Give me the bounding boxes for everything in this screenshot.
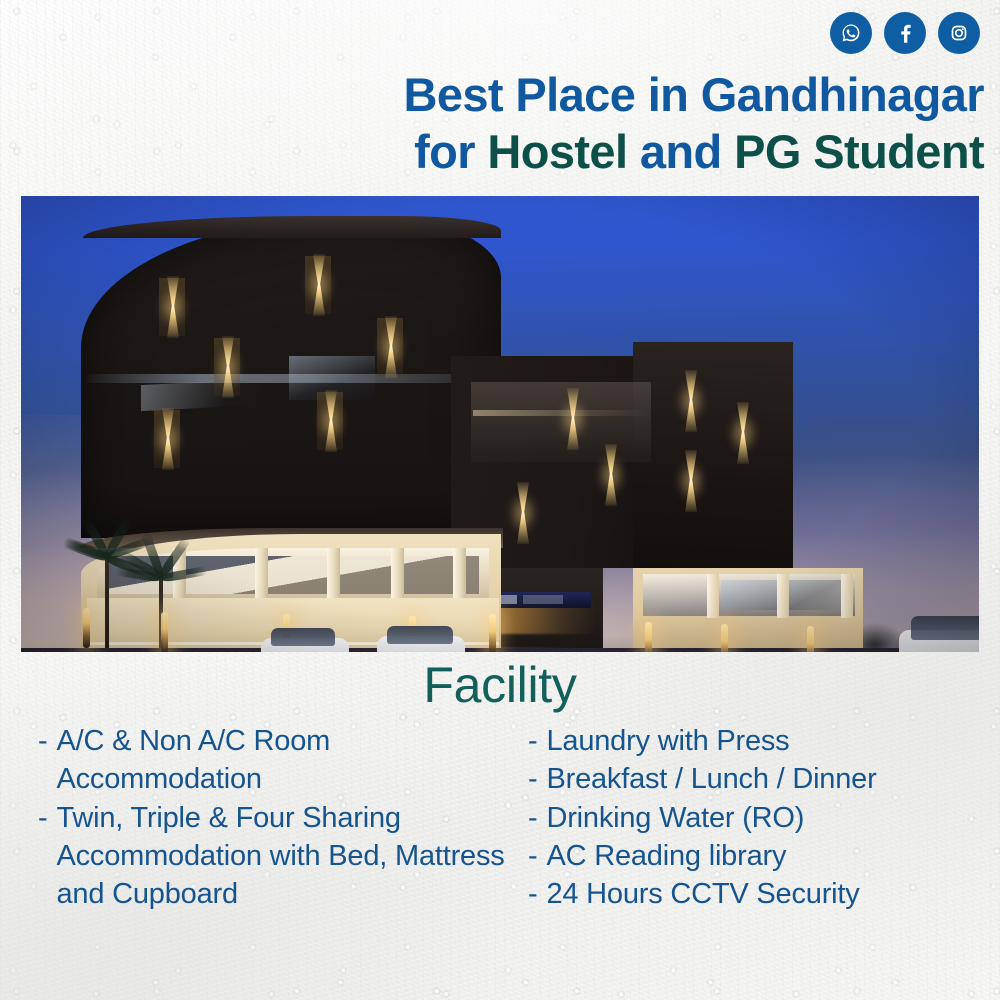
bollard-light-5 <box>645 622 652 652</box>
headline-line-1: Best Place in Gandhinagar <box>0 66 984 123</box>
list-item-label: Twin, Triple & Four Sharing Accommodatio… <box>56 799 520 914</box>
parked-car-3 <box>897 616 979 652</box>
bullet-dash: - <box>528 837 537 875</box>
list-item-label: AC Reading library <box>546 837 1000 875</box>
bollard-light-7 <box>807 626 814 652</box>
car-window <box>387 626 453 644</box>
portico-column-4 <box>391 548 404 600</box>
list-item: - 24 Hours CCTV Security <box>528 875 1000 913</box>
headline-pg-student-text: PG Student <box>734 125 984 178</box>
right-ground-column-2 <box>777 574 789 618</box>
list-item-label: Laundry with Press <box>546 722 1000 760</box>
parked-car-1 <box>257 626 353 652</box>
bollard-light-0 <box>83 608 90 648</box>
bullet-dash: - <box>528 799 537 837</box>
facility-heading: Facility <box>0 656 1000 714</box>
instagram-icon[interactable] <box>938 12 980 54</box>
bollard-light-6 <box>721 624 728 652</box>
bullet-dash: - <box>38 722 47 799</box>
list-item-label: Drinking Water (RO) <box>546 799 1000 837</box>
car-window <box>911 616 979 640</box>
headline-hostel-text: Hostel <box>487 125 627 178</box>
right-wing-front-face <box>633 342 793 570</box>
list-item: - Laundry with Press <box>528 722 1000 760</box>
bullet-dash: - <box>528 722 537 760</box>
facility-list-left: - A/C & Non A/C Room Accommodation - Twi… <box>0 722 520 913</box>
list-item: - AC Reading library <box>528 837 1000 875</box>
list-item: - Breakfast / Lunch / Dinner <box>528 760 1000 798</box>
parked-car-2 <box>373 624 469 652</box>
facebook-icon[interactable] <box>884 12 926 54</box>
bullet-dash: - <box>528 875 537 913</box>
headline-for-text: for <box>414 125 487 178</box>
list-item-label: A/C & Non A/C Room Accommodation <box>56 722 520 799</box>
headline-line-1-text: Best Place in Gandhinagar <box>403 68 984 121</box>
list-item: - Drinking Water (RO) <box>528 799 1000 837</box>
bollard-light-1 <box>161 612 168 652</box>
list-item: - Twin, Triple & Four Sharing Accommodat… <box>38 799 520 914</box>
building-signage-text <box>501 595 585 604</box>
tower-light-band <box>87 374 499 383</box>
portico-column-2 <box>255 548 268 600</box>
building-night-photo <box>21 196 979 652</box>
bollard-light-4 <box>489 614 496 652</box>
list-item-label: 24 Hours CCTV Security <box>546 875 1000 913</box>
portico-column-3 <box>327 548 340 600</box>
facility-list-right: - Laundry with Press - Breakfast / Lunch… <box>520 722 1000 913</box>
car-window <box>271 628 335 646</box>
right-ground-column-1 <box>707 574 719 618</box>
bullet-dash: - <box>528 760 537 798</box>
social-media-icon-row <box>830 12 980 54</box>
whatsapp-icon[interactable] <box>830 12 872 54</box>
headline-and-text: and <box>627 125 734 178</box>
page-title: Best Place in Gandhinagar for Hostel and… <box>0 66 1000 181</box>
palm-trunk-1 <box>105 552 109 652</box>
right-ground-column-3 <box>841 574 853 618</box>
headline-line-2: for Hostel and PG Student <box>0 123 984 180</box>
facility-lists: - A/C & Non A/C Room Accommodation - Twi… <box>0 722 1000 913</box>
poster-canvas: Best Place in Gandhinagar for Hostel and… <box>0 0 1000 1000</box>
list-item: - A/C & Non A/C Room Accommodation <box>38 722 520 799</box>
portico-column-5 <box>453 548 466 600</box>
list-item-label: Breakfast / Lunch / Dinner <box>546 760 1000 798</box>
bullet-dash: - <box>38 799 47 914</box>
